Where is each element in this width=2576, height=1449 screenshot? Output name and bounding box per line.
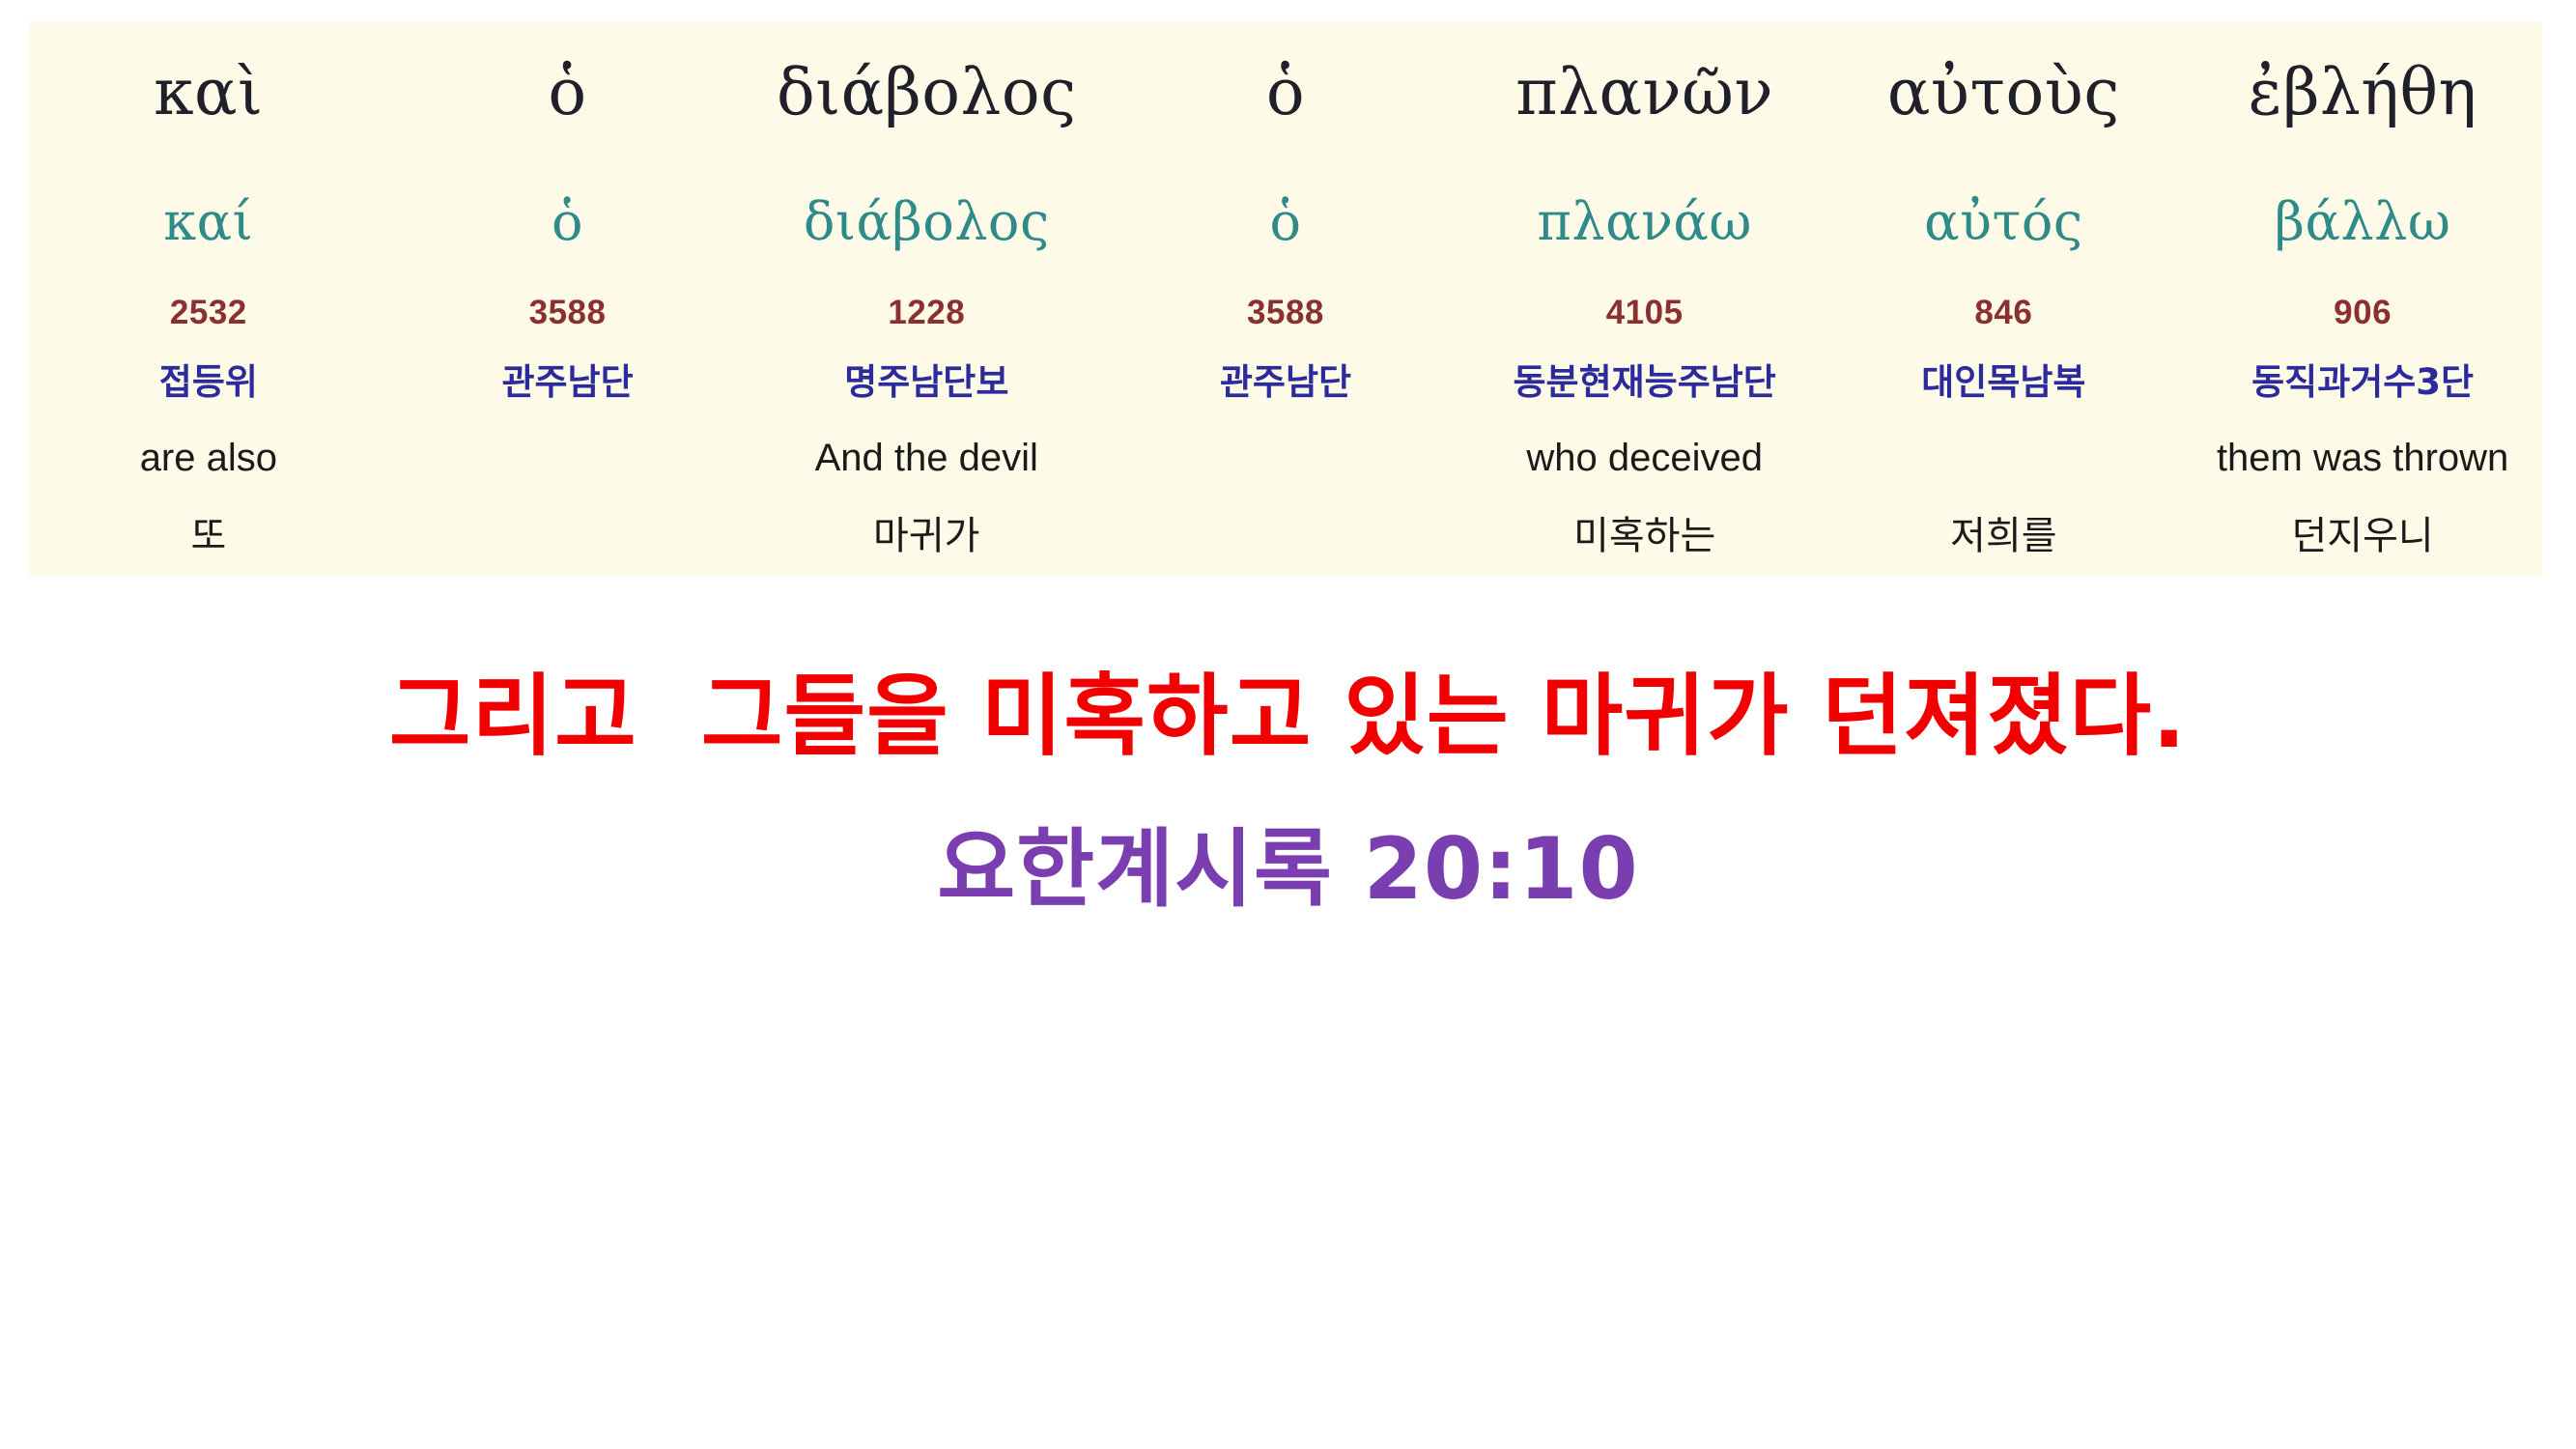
english-gloss-cell: are also xyxy=(29,418,388,497)
parsing-code-cell: 관주남단 xyxy=(388,345,748,418)
greek-word-cell: πλανῶν xyxy=(1465,21,1825,163)
lemma-cell: πλανάω xyxy=(1465,163,1825,280)
greek-word-cell: ὁ xyxy=(388,21,748,163)
lemma-cell: διάβολος xyxy=(747,163,1106,280)
greek-word-cell: ὁ xyxy=(1106,21,1465,163)
greek-word-cell: ἐβλήθη xyxy=(2183,21,2542,163)
parsing-code-cell: 동분현재능주남단 xyxy=(1465,345,1825,418)
parsing-code-cell: 관주남단 xyxy=(1106,345,1465,418)
strongs-number-cell: 1228 xyxy=(747,279,1106,345)
lemma-cell: βάλλω xyxy=(2183,163,2542,280)
strongs-number-cell: 846 xyxy=(1825,279,2184,345)
korean-gloss-cell xyxy=(1106,497,1465,576)
interlinear-panel: καὶ ὁ διάβολος ὁ πλανῶν αὐτοὺς ἐβλήθη κα… xyxy=(29,21,2542,576)
interlinear-table: καὶ ὁ διάβολος ὁ πλανῶν αὐτοὺς ἐβλήθη κα… xyxy=(29,21,2542,576)
lemma-cell: αὐτός xyxy=(1825,163,2184,280)
row-english-gloss: are also And the devil who deceived them… xyxy=(29,418,2542,497)
english-gloss-cell: them was thrown xyxy=(2183,418,2542,497)
lemma-cell: καί xyxy=(29,163,388,280)
lemma-cell: ὁ xyxy=(388,163,748,280)
row-greek-inflected: καὶ ὁ διάβολος ὁ πλανῶν αὐτοὺς ἐβλήθη xyxy=(29,21,2542,163)
english-gloss-cell xyxy=(1825,418,2184,497)
strongs-number-cell: 4105 xyxy=(1465,279,1825,345)
greek-word-cell: αὐτοὺς xyxy=(1825,21,2184,163)
english-gloss-cell xyxy=(388,418,748,497)
row-parsing-code: 접등위 관주남단 명주남단보 관주남단 동분현재능주남단 대인목남복 동직과거수… xyxy=(29,345,2542,418)
row-greek-lemma: καί ὁ διάβολος ὁ πλανάω αὐτός βάλλω xyxy=(29,163,2542,280)
greek-word-cell: καὶ xyxy=(29,21,388,163)
korean-gloss-cell: 마귀가 xyxy=(747,497,1106,576)
parsing-code-cell: 동직과거수3단 xyxy=(2183,345,2542,418)
korean-gloss-cell: 저희를 xyxy=(1825,497,2184,576)
row-strongs-number: 2532 3588 1228 3588 4105 846 906 xyxy=(29,279,2542,345)
greek-word-cell: διάβολος xyxy=(747,21,1106,163)
strongs-number-cell: 2532 xyxy=(29,279,388,345)
lemma-cell: ὁ xyxy=(1106,163,1465,280)
korean-gloss-cell: 던지우니 xyxy=(2183,497,2542,576)
korean-translation-text: 그리고 그들을 미혹하고 있는 마귀가 던져졌다. xyxy=(0,667,2576,766)
parsing-code-cell: 명주남단보 xyxy=(747,345,1106,418)
row-korean-gloss: 또 마귀가 미혹하는 저희를 던지우니 xyxy=(29,497,2542,576)
english-gloss-cell xyxy=(1106,418,1465,497)
korean-gloss-cell xyxy=(388,497,748,576)
strongs-number-cell: 3588 xyxy=(1106,279,1465,345)
korean-gloss-cell: 또 xyxy=(29,497,388,576)
parsing-code-cell: 접등위 xyxy=(29,345,388,418)
english-gloss-cell: who deceived xyxy=(1465,418,1825,497)
strongs-number-cell: 3588 xyxy=(388,279,748,345)
korean-gloss-cell: 미혹하는 xyxy=(1465,497,1825,576)
english-gloss-cell: And the devil xyxy=(747,418,1106,497)
strongs-number-cell: 906 xyxy=(2183,279,2542,345)
scripture-reference: 요한계시록 20:10 xyxy=(0,822,2576,918)
translation-block: 그리고 그들을 미혹하고 있는 마귀가 던져졌다. 요한계시록 20:10 xyxy=(0,667,2576,918)
parsing-code-cell: 대인목남복 xyxy=(1825,345,2184,418)
